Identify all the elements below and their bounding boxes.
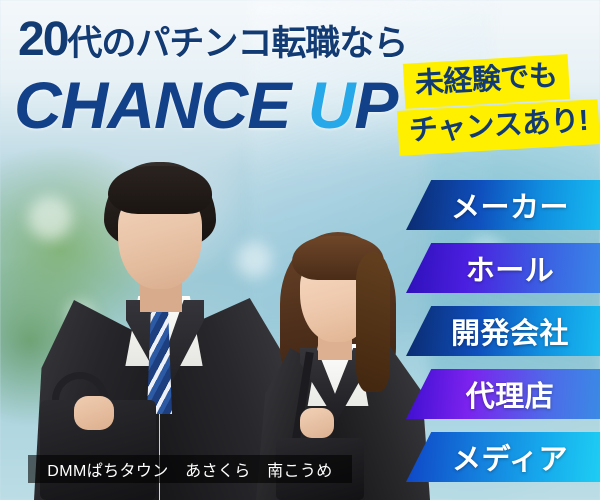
category-button-agency[interactable]: 代理店 — [406, 369, 600, 419]
logo-letter-u-accent: U — [308, 68, 355, 142]
bokeh-light — [236, 242, 272, 278]
logo-text-chance: CHANCE — [14, 68, 308, 142]
bokeh-light — [28, 196, 72, 240]
category-label: メーカー — [437, 184, 569, 226]
credit-bar: DMMぱちタウン あさくら 南こうめ — [28, 455, 352, 483]
category-button-media[interactable]: メディア — [406, 432, 600, 482]
category-button-hall[interactable]: ホール — [406, 243, 600, 293]
category-button-development-company[interactable]: 開発会社 — [406, 306, 600, 356]
category-button-list: メーカー ホール 開発会社 代理店 メディア — [406, 180, 600, 495]
headline-number: 20 — [18, 13, 67, 66]
headline: 20代のパチンコ転職なら — [18, 16, 407, 64]
logo-letter-p: P — [354, 68, 397, 142]
credit-text: DMMぱちタウン あさくら 南こうめ — [47, 457, 332, 481]
headline-tail: なら — [339, 24, 407, 63]
category-label: ホール — [452, 247, 555, 289]
man-necktie — [147, 306, 172, 414]
category-label: メディア — [438, 436, 568, 478]
woman-hand — [300, 408, 334, 438]
headline-middle: 代のパチンコ転職 — [67, 24, 339, 63]
category-label: 開発会社 — [437, 310, 569, 352]
category-label: 代理店 — [452, 373, 555, 415]
category-button-maker[interactable]: メーカー — [406, 180, 600, 230]
man-hand — [74, 396, 114, 430]
man-hair-fringe — [108, 166, 212, 214]
chance-up-logo: CHANCE UP — [14, 72, 397, 138]
recruitment-banner: 20代のパチンコ転職なら CHANCE UP 未経験でも チャンスあり! メーカ… — [0, 0, 600, 500]
